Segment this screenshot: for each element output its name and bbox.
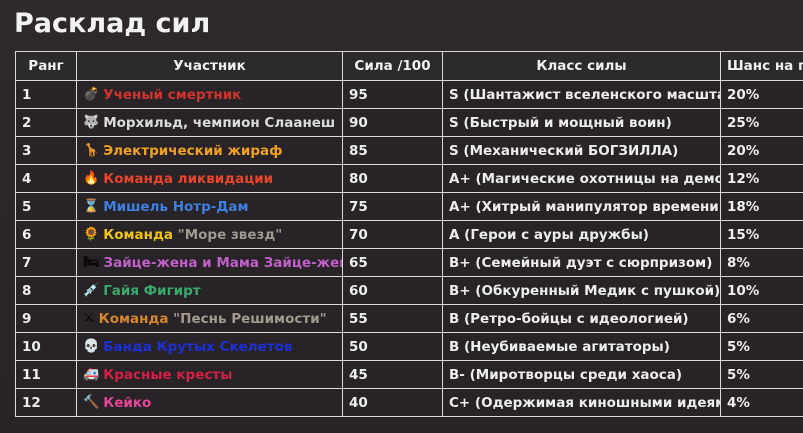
cell-win-chance: 10% [721,277,803,305]
participant-name: Зайце-жена и Мама Зайце-жены [104,255,343,271]
participant-name-suffix: "Море звезд" [173,227,282,243]
page-title: Расклад сил [14,8,210,39]
cell-win-chance: 6% [721,305,803,333]
header-rank: Ранг [16,52,77,81]
cell-class: B- (Миротворцы среди хаоса) [443,361,721,389]
cell-win-chance: 5% [721,333,803,361]
cell-class: B (Ретро-бойцы с идеологией) [443,305,721,333]
cell-rank: 7 [16,249,77,277]
cell-rank: 10 [16,333,77,361]
crossed-swords-icon: ⚔ [83,312,95,325]
cell-participant: 🚑Красные кресты [77,361,343,389]
cell-win-chance: 4% [721,389,803,417]
cell-power: 45 [343,361,443,389]
participant-name: Кейко [103,395,151,411]
participant-name: Гайя Фигирт [103,283,200,299]
giraffe-icon: 🦒 [83,144,99,157]
participant-name: Команда [103,227,173,243]
cell-win-chance: 5% [721,361,803,389]
rank-table: Ранг Участник Сила /100 Класс силы Шанс … [15,51,803,417]
skull-icon: 💀 [83,340,99,353]
fire-icon: 🔥 [83,172,99,185]
cell-participant: 💣Ученый смертник [77,81,343,109]
cell-participant: 💀Банда Крутых Скелетов [77,333,343,361]
cell-participant: 🔨Кейко [77,389,343,417]
cell-class: B+ (Обкуренный Медик с пушкой) [443,277,721,305]
cell-class: A+ (Магические охотницы на демонов) [443,165,721,193]
cell-rank: 3 [16,137,77,165]
cell-participant: 🌻Команда "Море звезд" [77,221,343,249]
table-row: 12🔨Кейко40C+ (Одержимая киношными идеями… [16,389,803,417]
cell-class: S (Шантажист вселенского масштаба) [443,81,721,109]
cell-participant: ⚔Команда "Песнь Решимости" [77,305,343,333]
cell-rank: 4 [16,165,77,193]
wolf-icon: 🐺 [83,116,99,129]
cell-participant: 🦒Электрический жираф [77,137,343,165]
cell-participant: 🐺Морхильд, чемпион Слаанеш [77,109,343,137]
cell-rank: 9 [16,305,77,333]
header-row: Ранг Участник Сила /100 Класс силы Шанс … [16,52,803,81]
rank-table-container: Ранг Участник Сила /100 Класс силы Шанс … [15,51,790,417]
cell-rank: 2 [16,109,77,137]
cell-power: 75 [343,193,443,221]
cell-class: A+ (Хитрый манипулятор времени) [443,193,721,221]
cell-class: B+ (Семейный дуэт с сюрпризом) [443,249,721,277]
cell-power: 90 [343,109,443,137]
table-row: 8💉Гайя Фигирт60B+ (Обкуренный Медик с пу… [16,277,803,305]
ambulance-icon: 🚑 [83,368,99,381]
cell-win-chance: 12% [721,165,803,193]
table-row: 4🔥Команда ликвидации80A+ (Магические охо… [16,165,803,193]
cell-win-chance: 25% [721,109,803,137]
cell-power: 70 [343,221,443,249]
cell-win-chance: 18% [721,193,803,221]
participant-name: Ученый смертник [103,87,241,103]
participant-name: Мишель Нотр-Дам [103,199,248,215]
cell-rank: 12 [16,389,77,417]
cell-class: A (Герои с ауры дружбы) [443,221,721,249]
table-row: 6🌻Команда "Море звезд"70A (Герои с ауры … [16,221,803,249]
cell-participant: 💉Гайя Фигирт [77,277,343,305]
participant-name: Морхильд, чемпион Слаанеш [103,115,335,131]
cell-rank: 1 [16,81,77,109]
cell-win-chance: 20% [721,81,803,109]
participant-name-suffix: "Песнь Решимости" [168,311,326,327]
cell-power: 55 [343,305,443,333]
cell-rank: 5 [16,193,77,221]
table-body: 1💣Ученый смертник95S (Шантажист вселенск… [16,81,803,417]
hourglass-icon: ⌛ [83,200,99,213]
cell-power: 95 [343,81,443,109]
participant-name: Команда [99,311,169,327]
cell-participant: 🔥Команда ликвидации [77,165,343,193]
cell-power: 80 [343,165,443,193]
table-row: 9⚔Команда "Песнь Решимости"55B (Ретро-бо… [16,305,803,333]
table-row: 10💀Банда Крутых Скелетов50B (Неубиваемые… [16,333,803,361]
participant-name: Банда Крутых Скелетов [103,339,292,355]
table-row: 5⌛Мишель Нотр-Дам75A+ (Хитрый манипулято… [16,193,803,221]
cell-win-chance: 8% [721,249,803,277]
header-power: Сила /100 [343,52,443,81]
cell-rank: 11 [16,361,77,389]
cell-power: 40 [343,389,443,417]
cell-class: S (Быстрый и мощный воин) [443,109,721,137]
cell-participant: 🛏Зайце-жена и Мама Зайце-жены [77,249,343,277]
cell-win-chance: 20% [721,137,803,165]
header-class: Класс силы [443,52,721,81]
hammer-icon: 🔨 [83,396,99,409]
table-row: 11🚑Красные кресты45B- (Миротворцы среди … [16,361,803,389]
bed-icon: 🛏 [83,256,100,269]
cell-win-chance: 15% [721,221,803,249]
cell-power: 65 [343,249,443,277]
cell-participant: ⌛Мишель Нотр-Дам [77,193,343,221]
table-row: 7🛏Зайце-жена и Мама Зайце-жены65B+ (Семе… [16,249,803,277]
cell-rank: 8 [16,277,77,305]
bomb-icon: 💣 [83,88,99,101]
cell-power: 60 [343,277,443,305]
table-row: 1💣Ученый смертник95S (Шантажист вселенск… [16,81,803,109]
cell-class: C+ (Одержимая киношными идеями) [443,389,721,417]
table-header: Ранг Участник Сила /100 Класс силы Шанс … [16,52,803,81]
power-ranking-page: Расклад сил Ранг Участник Сила /100 Клас… [0,0,803,433]
cell-rank: 6 [16,221,77,249]
participant-name: Электрический жираф [103,143,282,159]
syringe-icon: 💉 [83,284,99,297]
sunflower-icon: 🌻 [83,228,99,241]
participant-name: Красные кресты [103,367,232,383]
cell-class: S (Механический БОГЗИЛЛА) [443,137,721,165]
header-win-chance: Шанс на победу [721,52,803,81]
table-row: 2🐺Морхильд, чемпион Слаанеш90S (Быстрый … [16,109,803,137]
table-row: 3🦒Электрический жираф85S (Механический Б… [16,137,803,165]
header-participant: Участник [77,52,343,81]
cell-power: 50 [343,333,443,361]
cell-power: 85 [343,137,443,165]
participant-name: Команда ликвидации [103,171,273,187]
cell-class: B (Неубиваемые агитаторы) [443,333,721,361]
